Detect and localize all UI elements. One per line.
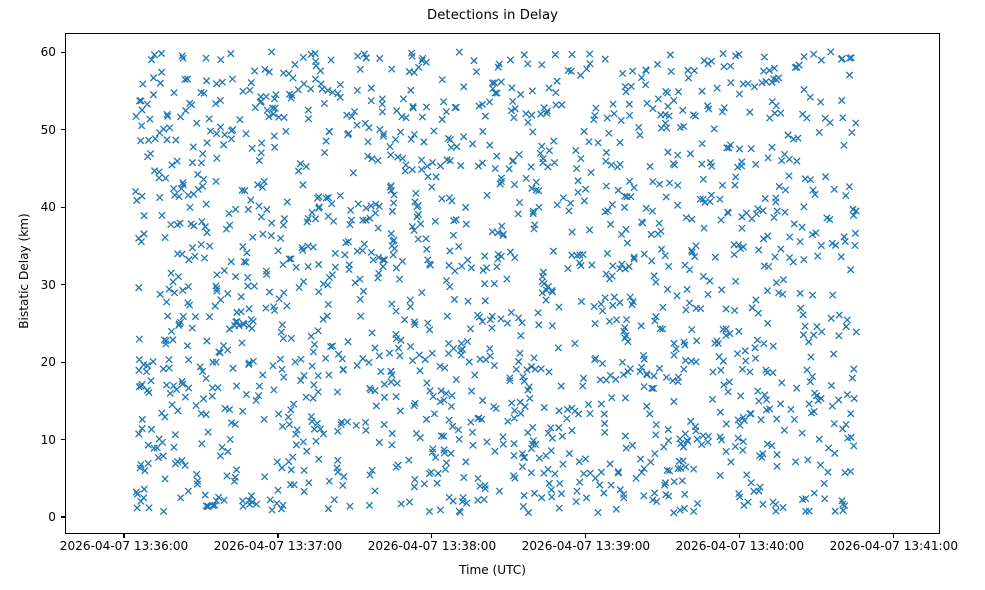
x-tick-mark [585,534,586,538]
chart-title: Detections in Delay [0,8,985,23]
x-tick-label: 2026-04-07 13:37:00 [214,539,342,553]
y-tick-label: 10 [16,433,56,447]
y-tick-mark [61,52,65,53]
y-tick-mark [61,439,65,440]
x-tick-label: 2026-04-07 13:36:00 [60,539,188,553]
x-axis-label: Time (UTC) [0,563,985,577]
y-tick-mark [61,207,65,208]
scatter-series [66,34,939,533]
x-tick-mark [893,534,894,538]
y-tick-mark [61,362,65,363]
plot-area [65,33,940,534]
x-tick-label: 2026-04-07 13:39:00 [522,539,650,553]
chart-figure: Detections in Delay 2026-04-07 13:36:002… [0,0,985,590]
scatter-markers [132,49,859,516]
x-tick-mark [739,534,740,538]
y-tick-mark [61,284,65,285]
x-tick-label: 2026-04-07 13:40:00 [676,539,804,553]
y-tick-mark [61,129,65,130]
y-tick-mark [61,516,65,517]
x-tick-mark [123,534,124,538]
x-tick-mark [431,534,432,538]
y-tick-label: 60 [16,45,56,59]
y-tick-label: 0 [16,510,56,524]
x-tick-label: 2026-04-07 13:41:00 [830,539,958,553]
x-tick-label: 2026-04-07 13:38:00 [368,539,496,553]
y-axis-label: Bistatic Delay (km) [17,131,31,411]
x-tick-mark [277,534,278,538]
